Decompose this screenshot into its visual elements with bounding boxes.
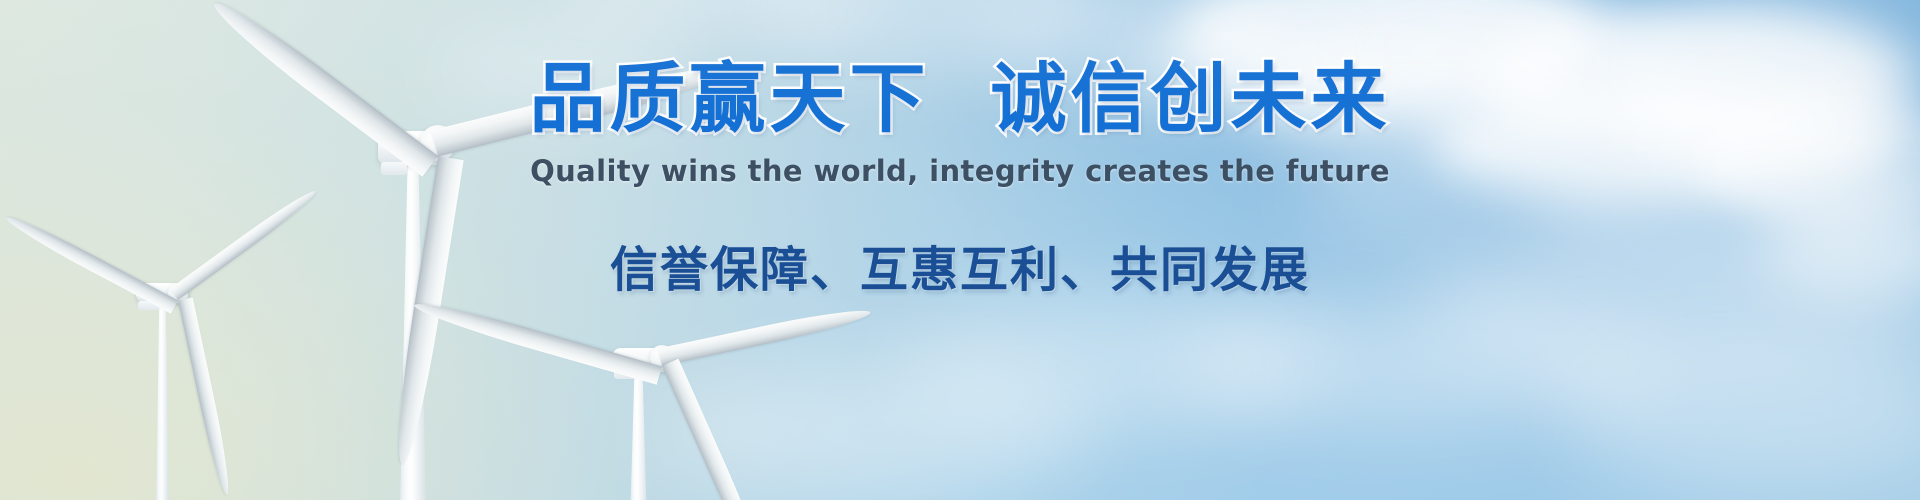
- hero-banner: 品质赢天下 诚信创未来 Quality wins the world, inte…: [0, 0, 1920, 500]
- banner-tagline: 信誉保障、互惠互利、共同发展: [0, 230, 1920, 300]
- banner-headline: 品质赢天下 诚信创未来: [0, 58, 1920, 140]
- banner-text-stack: 品质赢天下 诚信创未来 Quality wins the world, inte…: [0, 58, 1920, 300]
- banner-subtitle: Quality wins the world, integrity create…: [0, 154, 1920, 188]
